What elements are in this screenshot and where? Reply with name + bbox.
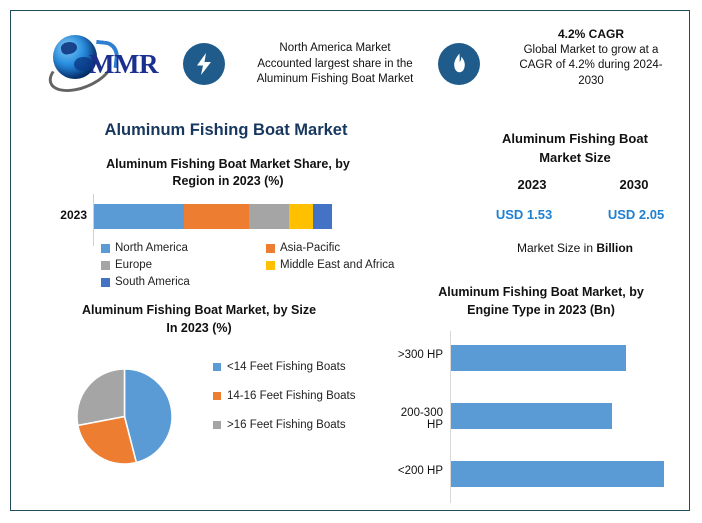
legend-swatch-icon <box>213 363 221 371</box>
engine-chart-row: <200 HP <box>383 447 699 503</box>
legend-swatch-icon <box>213 421 221 429</box>
region-chart-title: Aluminum Fishing Boat Market Share, by R… <box>63 156 393 190</box>
region-chart-category-label: 2023 <box>39 208 87 222</box>
region-legend-item[interactable]: South America <box>101 274 266 290</box>
region-legend-item[interactable]: North America <box>101 240 266 256</box>
pie-legend-item[interactable]: 14-16 Feet Fishing Boats <box>213 388 373 404</box>
market-size-year-end: 2030 <box>589 177 679 192</box>
region-stacked-bar[interactable] <box>94 204 332 229</box>
region-legend-item[interactable]: Asia-Pacific <box>266 240 431 256</box>
header-line-3: Aluminum Fishing Boat Market <box>235 72 435 88</box>
pie-chart-title-line1: Aluminum Fishing Boat Market, by Size <box>49 301 349 319</box>
engine-bar[interactable] <box>451 345 626 371</box>
cagr-line-3: 2030 <box>486 74 696 90</box>
market-size-title-line1: Aluminum Fishing Boat <box>465 129 685 148</box>
page-title: Aluminum Fishing Boat Market <box>11 121 441 140</box>
infographic-frame: MMR North America Market Accounted large… <box>10 10 690 511</box>
engine-category-label: >300 HP <box>383 349 443 361</box>
legend-swatch-icon <box>213 392 221 400</box>
region-chart-legend: North AmericaAsia-PacificEuropeMiddle Ea… <box>101 240 431 291</box>
header-highlight-cagr: 4.2% CAGR Global Market to grow at a CAG… <box>438 27 698 97</box>
header-highlight-north-america: North America Market Accounted largest s… <box>173 27 438 97</box>
pie-chart-legend: <14 Feet Fishing Boats14-16 Feet Fishing… <box>213 359 373 446</box>
region-legend-label: North America <box>115 240 188 256</box>
market-size-title-line2: Market Size <box>465 148 685 167</box>
market-size-value-start: USD 1.53 <box>479 207 569 222</box>
legend-swatch-icon <box>266 244 275 253</box>
engine-bar[interactable] <box>451 461 664 487</box>
region-chart-title-line2: Region in 2023 (%) <box>63 173 393 190</box>
region-segment-south-america[interactable] <box>313 204 332 229</box>
engine-chart-row: 200-300 HP <box>383 389 699 445</box>
engine-category-label: 200-300 HP <box>383 407 443 431</box>
market-size-footnote: Market Size in Billion <box>465 241 685 255</box>
market-size-value-end: USD 2.05 <box>591 207 681 222</box>
top-edge-artifact <box>14 0 74 7</box>
pie-graphic[interactable] <box>76 368 173 465</box>
region-chart-title-line1: Aluminum Fishing Boat Market Share, by <box>63 156 393 173</box>
engine-chart-title: Aluminum Fishing Boat Market, by Engine … <box>393 283 689 319</box>
engine-chart-title-line2: Engine Type in 2023 (Bn) <box>393 301 689 319</box>
header-band: MMR North America Market Accounted large… <box>23 23 699 101</box>
region-legend-item[interactable]: Europe <box>101 257 266 273</box>
legend-swatch-icon <box>101 278 110 287</box>
header-cagr-text: 4.2% CAGR Global Market to grow at a CAG… <box>486 27 696 89</box>
pie-legend-item[interactable]: <14 Feet Fishing Boats <box>213 359 373 375</box>
market-size-panel: Aluminum Fishing Boat Market Size 2023 2… <box>451 129 699 279</box>
flame-icon <box>438 43 480 85</box>
header-line-1: North America Market <box>235 41 435 57</box>
cagr-line-2: CAGR of 4.2% during 2024- <box>486 58 696 74</box>
engine-bar[interactable] <box>451 403 612 429</box>
infographic-root: MMR North America Market Accounted large… <box>0 0 702 523</box>
engine-category-label: <200 HP <box>383 465 443 477</box>
pie-legend-item[interactable]: >16 Feet Fishing Boats <box>213 417 373 433</box>
legend-swatch-icon <box>266 261 275 270</box>
market-size-title: Aluminum Fishing Boat Market Size <box>465 129 685 167</box>
size-pie-chart: Aluminum Fishing Boat Market, by Size In… <box>33 301 378 516</box>
market-size-footnote-prefix: Market Size in <box>517 241 596 255</box>
engine-type-chart: Aluminum Fishing Boat Market, by Engine … <box>383 283 699 518</box>
lightning-bolt-icon <box>183 43 225 85</box>
region-legend-item[interactable]: Middle East and Africa <box>266 257 431 273</box>
legend-swatch-icon <box>101 261 110 270</box>
region-legend-label: Middle East and Africa <box>280 257 394 273</box>
pie-legend-label: 14-16 Feet Fishing Boats <box>227 388 356 404</box>
region-legend-label: Europe <box>115 257 152 273</box>
region-legend-label: South America <box>115 274 190 290</box>
header-line-2: Accounted largest share in the <box>235 57 435 73</box>
legend-swatch-icon <box>101 244 110 253</box>
region-segment-north-america[interactable] <box>94 204 184 229</box>
market-size-year-start: 2023 <box>487 177 577 192</box>
cagr-heading: 4.2% CAGR <box>486 27 696 43</box>
pie-legend-label: <14 Feet Fishing Boats <box>227 359 346 375</box>
pie-chart-title-line2: In 2023 (%) <box>49 319 349 337</box>
region-segment-asia-pacific[interactable] <box>184 204 248 229</box>
cagr-line-1: Global Market to grow at a <box>486 43 696 59</box>
engine-chart-row: >300 HP <box>383 331 699 387</box>
region-share-chart: Aluminum Fishing Boat Market Share, by R… <box>33 156 433 286</box>
region-segment-europe[interactable] <box>249 204 289 229</box>
pie-slice[interactable] <box>77 369 125 425</box>
region-legend-label: Asia-Pacific <box>280 240 340 256</box>
market-size-footnote-unit: Billion <box>596 241 633 255</box>
region-segment-middle-east-and-africa[interactable] <box>289 204 313 229</box>
pie-chart-title: Aluminum Fishing Boat Market, by Size In… <box>49 301 349 337</box>
brand-logo-text: MMR <box>89 49 158 80</box>
engine-chart-title-line1: Aluminum Fishing Boat Market, by <box>393 283 689 301</box>
header-highlight-text: North America Market Accounted largest s… <box>235 41 435 88</box>
brand-logo[interactable]: MMR <box>37 29 177 91</box>
pie-legend-label: >16 Feet Fishing Boats <box>227 417 346 433</box>
